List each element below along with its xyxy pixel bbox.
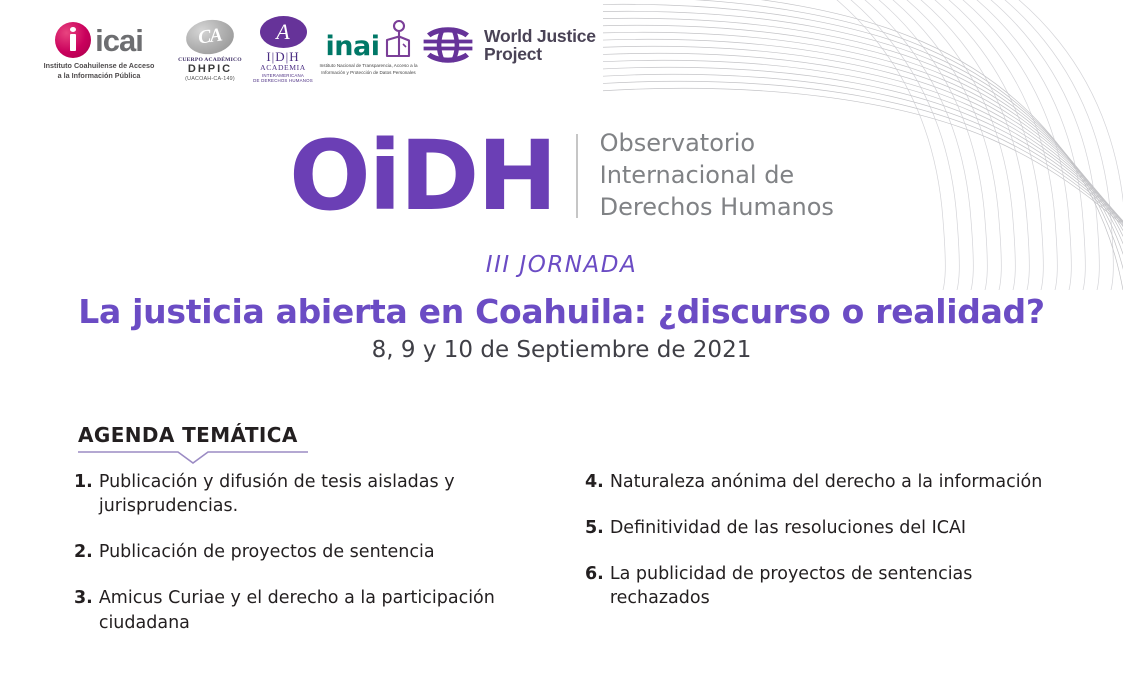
oidh-wordmark: OiDH: [289, 128, 556, 224]
agenda-column-right: 4. Naturaleza anónima del derecho a la i…: [585, 470, 1074, 657]
oidh-tagline: Observatorio Internacional de Derechos H…: [600, 128, 834, 223]
icai-wordmark: icai: [95, 25, 143, 56]
wjp-line1: World Justice: [484, 27, 596, 45]
agenda-underline-chevron: [78, 451, 308, 465]
globe-icon: [421, 26, 475, 64]
agenda-item-text: Naturaleza anónima del derecho a la info…: [610, 470, 1074, 494]
agenda-heading: AGENDA TEMÁTICA: [78, 423, 308, 447]
agenda-item-number: 5.: [585, 516, 604, 540]
logo-icai: icai Instituto Coahuilense de Acceso a l…: [28, 8, 170, 80]
agenda-columns: 1. Publicación y difusión de tesis aisla…: [74, 470, 1074, 657]
idh-monogram-icon: A: [260, 16, 307, 48]
event-title: La justicia abierta en Coahuila: ¿discur…: [0, 292, 1123, 331]
agenda-item-number: 4.: [585, 470, 604, 494]
icai-subtitle-line1: Instituto Coahuilense de Acceso: [28, 61, 170, 71]
icai-circle-i-icon: [55, 22, 91, 58]
agenda-item-text: Publicación y difusión de tesis aisladas…: [99, 470, 563, 518]
agenda-item-text: Publicación de proyectos de sentencia: [99, 540, 563, 564]
idh-line1: ACADEMIA: [250, 64, 316, 72]
ca-monogram-text: CA: [197, 24, 223, 49]
inai-subtitle-line1: Instituto Nacional de Transparencia, Acc…: [316, 63, 421, 70]
agenda-item: 2. Publicación de proyectos de sentencia: [74, 540, 563, 564]
idh-monogram-text: A: [276, 21, 289, 43]
agenda-item-number: 6.: [585, 562, 604, 586]
agenda-item: 4. Naturaleza anónima del derecho a la i…: [585, 470, 1074, 494]
agenda-item-text: Amicus Curiae y el derecho a la particip…: [99, 586, 563, 634]
inai-person-ballot-box-icon: [384, 20, 411, 60]
agenda-item: 1. Publicación y difusión de tesis aisla…: [74, 470, 563, 518]
idh-letters: I|D|H: [250, 50, 316, 64]
oidh-tagline-line1: Observatorio: [600, 128, 834, 160]
event-dates: 8, 9 y 10 de Septiembre de 2021: [0, 337, 1123, 363]
agenda-item-text: La publicidad de proyectos de sentencias…: [610, 562, 1074, 610]
logo-idh-academia: A I|D|H ACADEMIA INTERAMERICANA DE DEREC…: [250, 8, 316, 84]
agenda-item-number: 2.: [74, 540, 93, 564]
agenda-item: 3. Amicus Curiae y el derecho a la parti…: [74, 586, 563, 634]
logo-inai: inai Instituto Nacional de Transparencia…: [316, 8, 421, 76]
agenda-heading-group: AGENDA TEMÁTICA: [78, 423, 308, 465]
sponsor-logo-strip: icai Instituto Coahuilense de Acceso a l…: [28, 8, 607, 88]
agenda-item-number: 3.: [74, 586, 93, 610]
oidh-tagline-line2: Internacional de: [600, 160, 834, 192]
wjp-line2: Project: [484, 45, 596, 63]
logo-world-justice-project: World Justice Project: [421, 8, 607, 64]
oidh-brand-lockup: OiDH Observatorio Internacional de Derec…: [0, 128, 1123, 224]
logo-dhpic: CA CUERPO ACADÉMICO DHPIC (UACOAH-CA-149…: [170, 8, 250, 82]
agenda-column-left: 1. Publicación y difusión de tesis aisla…: [74, 470, 563, 657]
agenda-item: 6. La publicidad de proyectos de sentenc…: [585, 562, 1074, 610]
ca-monogram-icon: CA: [184, 17, 236, 57]
lockup-divider: [576, 134, 578, 218]
icai-subtitle-line2: a la Información Pública: [28, 71, 170, 81]
dhpic-line3: (UACOAH-CA-149): [170, 76, 250, 82]
agenda-item-text: Definitividad de las resoluciones del IC…: [610, 516, 1074, 540]
event-edition: III JORNADA: [0, 252, 1123, 278]
agenda-item-number: 1.: [74, 470, 93, 494]
idh-line3: DE DERECHOS HUMANOS: [250, 78, 316, 84]
dhpic-line2: DHPIC: [170, 63, 250, 76]
oidh-tagline-line3: Derechos Humanos: [600, 192, 834, 224]
agenda-item: 5. Definitividad de las resoluciones del…: [585, 516, 1074, 540]
inai-wordmark: inai: [326, 34, 380, 60]
inai-subtitle-line2: Información y Protección de Datos Person…: [316, 70, 421, 77]
